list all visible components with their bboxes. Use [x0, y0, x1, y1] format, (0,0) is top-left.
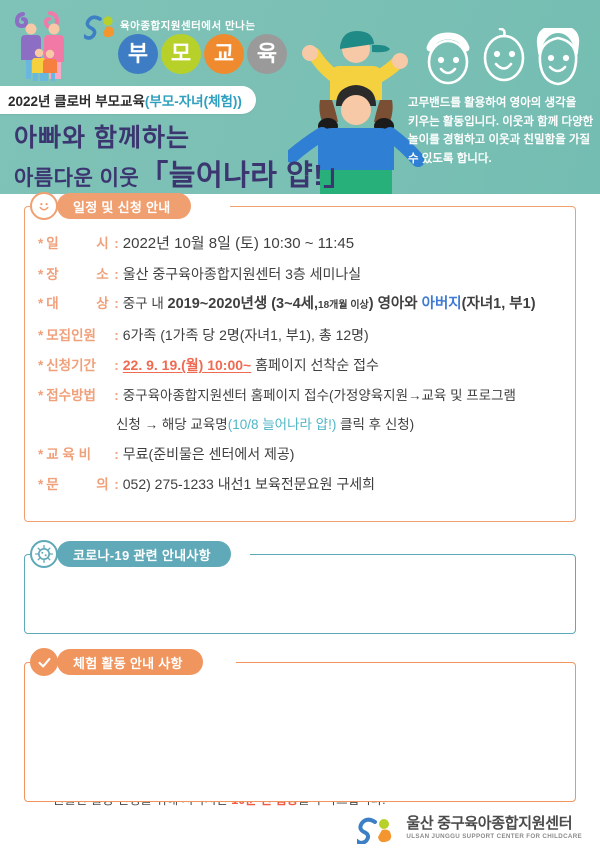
smiley-glyph — [35, 197, 53, 215]
row-target-infant: ) 영아와 — [369, 296, 422, 312]
section-schedule: 일정 및 신청 안내 *일 시: 2022년 10월 8일 (토) 10:30 … — [24, 206, 576, 522]
family-illustration — [12, 8, 74, 84]
covid-title: 코로나-19 관련 안내사항 — [57, 541, 231, 567]
brand-char-3: 육 — [247, 34, 287, 74]
row-apply-period-rest: 홈페이지 선착순 접수 — [251, 357, 379, 373]
footer-logo: 울산 중구육아종합지원센터 ULSAN JUNGGU SUPPORT CENTE… — [357, 814, 582, 844]
virus-glyph — [34, 544, 54, 564]
row-apply-cont-post: 클릭 후 신청) — [336, 417, 414, 432]
brand-characters: 부 모 교 육 — [118, 34, 287, 74]
check-glyph — [36, 654, 53, 671]
row-target-birth: 2019~2020년생 (3~4세, — [168, 296, 318, 312]
schedule-rows: *일 시: 2022년 10월 8일 (토) 10:30 ~ 11:45 *장 … — [24, 206, 576, 510]
row-datetime: *일 시: 2022년 10월 8일 (토) 10:30 ~ 11:45 — [24, 228, 576, 260]
brand-char-1: 모 — [161, 34, 201, 74]
schedule-header: 일정 및 신청 안내 — [30, 192, 191, 220]
row-target-pre: 중구 내 — [123, 296, 168, 311]
row-apply-period-label: 신청기간 — [46, 356, 112, 376]
row-apply-method-label: 접수방법 — [46, 386, 112, 406]
row-target-post: (자녀1, 부1) — [462, 296, 536, 312]
activity-box — [24, 662, 576, 802]
row-contact: *문 의: 052) 275-1233 내선1 보육전문요원 구세희 — [24, 470, 576, 500]
row-target: *대 상: 중구 내 2019~2020년생 (3~4세,18개월 이상) 영아… — [24, 290, 576, 321]
poster-title-line2: 아름다운 이웃「늘어나라 얍!」 — [14, 152, 353, 194]
program-badge: 2022년 클로버 부모교육(부모-자녀(체험)) — [0, 86, 256, 114]
title-line2-big: 「늘어나라 얍!」 — [139, 160, 353, 192]
title-line2-small: 아름다운 이웃 — [14, 167, 139, 190]
virus-icon — [30, 540, 58, 568]
section-covid: 코로나-19 관련 안내사항 *마스크 미 착용시 출입이 제한됩니다(영유아 … — [24, 554, 576, 634]
schedule-title: 일정 및 신청 안내 — [57, 193, 191, 219]
row-apply-period: *신청기간: 22. 9. 19.(월) 10:00~ 홈페이지 선착순 접수 — [24, 351, 576, 381]
row-capacity-value: 6가족 (1가족 당 2명(자녀1, 부1), 총 12명) — [123, 325, 369, 346]
section-activity: 체험 활동 안내 사항 *신청자가 3가족 미만일 경우 교육이 취소됩니다. … — [24, 662, 576, 802]
smiley-icon — [30, 192, 58, 220]
row-apply-cont-link: (10/8 늘어나라 얍!) — [228, 417, 337, 432]
row-fee-label: 교 육 비 — [46, 445, 112, 465]
footer-name-kr: 울산 중구육아종합지원센터 — [406, 816, 582, 831]
row-apply-method-cont: 신청 → 해당 교육명(10/8 늘어나라 얍!) 클릭 후 신청) — [24, 410, 576, 439]
row-contact-value: 052) 275-1233 내선1 보육전문요원 구세희 — [123, 474, 375, 495]
covid-header: 코로나-19 관련 안내사항 — [30, 540, 231, 568]
row-target-father: 아버지 — [422, 296, 462, 312]
poster-footer: 울산 중구육아종합지원센터 ULSAN JUNGGU SUPPORT CENTE… — [0, 808, 600, 849]
row-capacity-label: 모집인원 — [46, 326, 112, 346]
brand-char-0: 부 — [118, 34, 158, 74]
badge-accent: (부모-자녀(체험)) — [145, 90, 242, 110]
row-apply-method-value: 중구육아종합지원센터 홈페이지 접수(가정양육지원→교육 및 프로그램 — [123, 386, 516, 406]
smiley-faces-icon — [418, 28, 590, 90]
poster-header: 육아종합지원센터에서 만나는 부 모 교 육 — [0, 0, 600, 194]
row-place-value: 울산 중구육아종합지원센터 3층 세미나실 — [123, 264, 361, 285]
sci-logo-icon — [357, 814, 397, 844]
row-target-months: 18개월 이상 — [318, 300, 369, 311]
activity-header: 체험 활동 안내 사항 — [30, 648, 203, 676]
sci-logo-icon — [84, 12, 120, 42]
row-apply-period-date: 22. 9. 19.(월) 10:00~ — [123, 357, 251, 373]
footer-name-en: ULSAN JUNGGU SUPPORT CENTER FOR CHILDCAR… — [406, 834, 582, 840]
footer-text: 울산 중구육아종합지원센터 ULSAN JUNGGU SUPPORT CENTE… — [406, 816, 582, 840]
header-description: 고무밴드를 활용하여 영아의 생각을 키우는 활동입니다. 이웃과 함께 다양한… — [408, 94, 594, 169]
row-capacity: *모집인원: 6가족 (1가족 당 2명(자녀1, 부1), 총 12명) — [24, 321, 576, 351]
row-fee-value: 무료(준비물은 센터에서 제공) — [123, 444, 295, 465]
row-apply-method: *접수방법: 중구육아종합지원센터 홈페이지 접수(가정양육지원→교육 및 프로… — [24, 381, 576, 410]
row-apply-cont-pre: 신청 → 해당 교육명 — [116, 417, 228, 432]
badge-prefix: 2022년 클로버 부모교육 — [8, 90, 145, 110]
row-datetime-value: 2022년 10월 8일 (토) 10:30 ~ 11:45 — [123, 233, 354, 256]
brand-char-2: 교 — [204, 34, 244, 74]
row-fee: *교 육 비: 무료(준비물은 센터에서 제공) — [24, 440, 576, 470]
poster-title-line1: 아빠와 함께하는 — [14, 118, 190, 154]
row-place: *장 소: 울산 중구육아종합지원센터 3층 세미나실 — [24, 260, 576, 290]
activity-title: 체험 활동 안내 사항 — [57, 649, 203, 675]
check-circle-icon — [30, 648, 58, 676]
logo-caption: 육아종합지원센터에서 만나는 — [120, 18, 256, 33]
